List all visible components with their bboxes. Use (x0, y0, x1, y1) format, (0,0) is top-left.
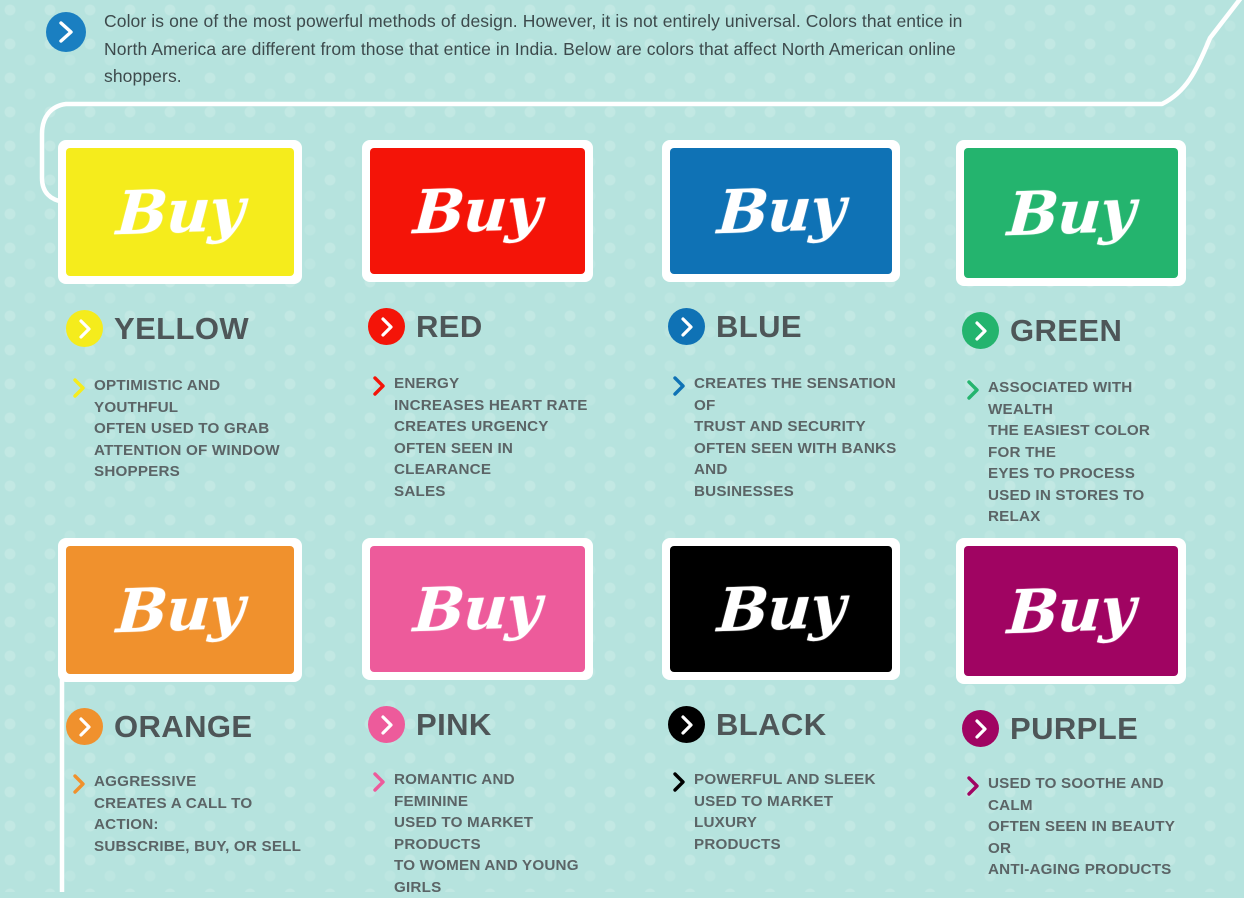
buy-text: Buy (716, 577, 847, 641)
chevron-right-circle-icon (668, 308, 705, 345)
chevron-right-icon (372, 375, 386, 402)
chevron-right-circle-icon (962, 710, 999, 747)
color-name-row: YELLOW (66, 310, 302, 347)
buy-swatch-orange[interactable]: Buy (58, 538, 302, 682)
buy-swatch-green[interactable]: Buy (956, 140, 1186, 286)
buy-swatch-red[interactable]: Buy (362, 140, 593, 282)
color-name-label: BLUE (716, 311, 802, 342)
color-name-row: PINK (368, 706, 593, 743)
color-name-label: PINK (416, 709, 492, 740)
buy-swatch-purple[interactable]: Buy (956, 538, 1186, 684)
chevron-right-circle-icon (668, 706, 705, 743)
color-description-row: CREATES THE SENSATION OF TRUST AND SECUR… (672, 373, 900, 502)
color-description-row: ASSOCIATED WITH WEALTH THE EASIEST COLOR… (966, 377, 1186, 528)
color-description-text: USED TO SOOTHE AND CALM OFTEN SEEN IN BE… (988, 773, 1186, 881)
color-name-row: BLUE (668, 308, 900, 345)
buy-text: Buy (115, 578, 246, 642)
chevron-right-circle-icon (368, 308, 405, 345)
color-description-text: OPTIMISTIC AND YOUTHFUL OFTEN USED TO GR… (94, 375, 302, 483)
color-name-label: BLACK (716, 709, 827, 740)
color-name-label: ORANGE (114, 711, 252, 742)
color-card-black: BuyBLACKPOWERFUL AND SLEEK USED TO MARKE… (662, 538, 900, 855)
header: Color is one of the most powerful method… (46, 8, 1006, 91)
buy-swatch-pink[interactable]: Buy (362, 538, 593, 680)
color-name-label: RED (416, 311, 483, 342)
color-description-text: AGGRESSIVE CREATES A CALL TO ACTION: SUB… (94, 771, 302, 857)
color-description-text: ENERGY INCREASES HEART RATE CREATES URGE… (394, 373, 593, 502)
color-card-blue: BuyBLUECREATES THE SENSATION OF TRUST AN… (662, 140, 900, 502)
chevron-right-circle-icon (368, 706, 405, 743)
color-description-text: POWERFUL AND SLEEK USED TO MARKET LUXURY… (694, 769, 900, 855)
chevron-right-icon (72, 377, 86, 404)
buy-swatch-blue[interactable]: Buy (662, 140, 900, 282)
color-description-row: ROMANTIC AND FEMININE USED TO MARKET PRO… (372, 769, 593, 898)
color-name-label: YELLOW (114, 313, 249, 344)
buy-text: Buy (412, 577, 543, 641)
color-name-row: RED (368, 308, 593, 345)
chevron-right-circle-icon (66, 708, 103, 745)
color-description-row: ENERGY INCREASES HEART RATE CREATES URGE… (372, 373, 593, 502)
color-card-purple: BuyPURPLEUSED TO SOOTHE AND CALM OFTEN S… (956, 538, 1186, 881)
color-name-label: GREEN (1010, 315, 1122, 346)
buy-text: Buy (115, 180, 246, 244)
color-description-row: USED TO SOOTHE AND CALM OFTEN SEEN IN BE… (966, 773, 1186, 881)
color-description-row: AGGRESSIVE CREATES A CALL TO ACTION: SUB… (72, 771, 302, 857)
chevron-right-icon (372, 771, 386, 798)
buy-swatch-yellow[interactable]: Buy (58, 140, 302, 284)
color-card-yellow: BuyYELLOWOPTIMISTIC AND YOUTHFUL OFTEN U… (58, 140, 302, 483)
chevron-right-icon (72, 773, 86, 800)
chevron-right-circle-icon (46, 12, 86, 52)
color-card-orange: BuyORANGEAGGRESSIVE CREATES A CALL TO AC… (58, 538, 302, 857)
buy-text: Buy (716, 179, 847, 243)
color-name-row: ORANGE (66, 708, 302, 745)
color-name-row: GREEN (962, 312, 1186, 349)
chevron-right-icon (966, 379, 980, 406)
color-description-text: ROMANTIC AND FEMININE USED TO MARKET PRO… (394, 769, 593, 898)
color-name-row: PURPLE (962, 710, 1186, 747)
color-card-green: BuyGREENASSOCIATED WITH WEALTH THE EASIE… (956, 140, 1186, 528)
chevron-right-icon (672, 375, 686, 402)
chevron-right-icon (966, 775, 980, 802)
buy-text: Buy (412, 179, 543, 243)
chevron-right-circle-icon (66, 310, 103, 347)
color-card-pink: BuyPINKROMANTIC AND FEMININE USED TO MAR… (362, 538, 593, 898)
buy-swatch-black[interactable]: Buy (662, 538, 900, 680)
color-description-text: CREATES THE SENSATION OF TRUST AND SECUR… (694, 373, 900, 502)
color-description-row: OPTIMISTIC AND YOUTHFUL OFTEN USED TO GR… (72, 375, 302, 483)
color-name-row: BLACK (668, 706, 900, 743)
color-description-text: ASSOCIATED WITH WEALTH THE EASIEST COLOR… (988, 377, 1186, 528)
color-name-label: PURPLE (1010, 713, 1138, 744)
header-description: Color is one of the most powerful method… (104, 8, 994, 91)
buy-text: Buy (1006, 181, 1137, 245)
chevron-right-circle-icon (962, 312, 999, 349)
buy-text: Buy (1006, 579, 1137, 643)
color-card-red: BuyREDENERGY INCREASES HEART RATE CREATE… (362, 140, 593, 502)
color-description-row: POWERFUL AND SLEEK USED TO MARKET LUXURY… (672, 769, 900, 855)
chevron-right-icon (672, 771, 686, 798)
